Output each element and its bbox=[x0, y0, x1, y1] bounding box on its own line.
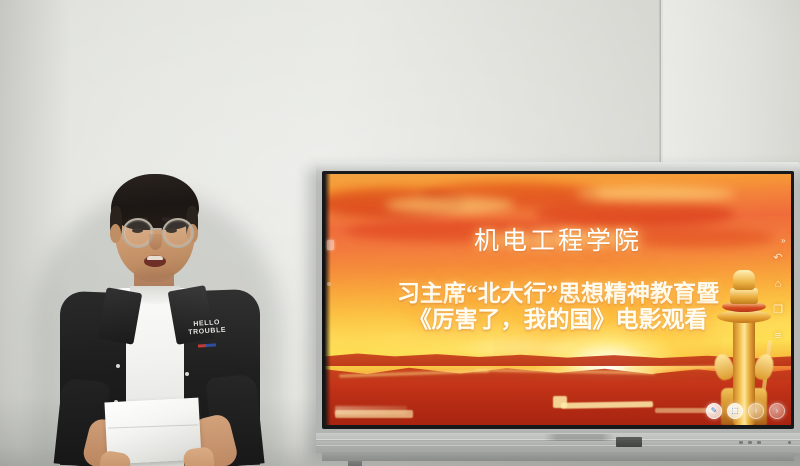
ir-receiver bbox=[616, 437, 642, 447]
slide-title: 机电工程学院 bbox=[325, 229, 791, 254]
speaker-vent bbox=[757, 441, 761, 444]
display-foot bbox=[348, 461, 362, 466]
cloud bbox=[535, 200, 735, 228]
previous-button[interactable]: ‹ bbox=[748, 403, 764, 419]
side-toolbar-handle[interactable]: » bbox=[781, 236, 788, 243]
back-arrow-icon[interactable]: ↶ bbox=[772, 252, 785, 265]
slide-subtitle-line-1: 习主席“北大行”思想精神教育暨 bbox=[325, 282, 791, 306]
cloud bbox=[385, 196, 515, 214]
slide-hud-controls[interactable]: ✎ ⬚ ‹ › bbox=[706, 403, 785, 419]
interactive-flat-panel[interactable]: 机电工程学院 习主席“北大行”思想精神教育暨 《厉害了，我的国》电影观看 » ↶… bbox=[316, 162, 800, 452]
screenshot-root: 机电工程学院 习主席“北大行”思想精神教育暨 《厉害了，我的国》电影观看 » ↶… bbox=[0, 0, 800, 466]
jacket-button bbox=[185, 372, 189, 376]
cloud bbox=[575, 186, 735, 202]
great-wall-tower bbox=[553, 396, 567, 408]
chin-groove bbox=[316, 445, 800, 447]
slide-subtitle-line-2: 《厉害了，我的国》电影观看 bbox=[325, 308, 791, 332]
display-base-rail bbox=[322, 452, 794, 461]
next-button[interactable]: › bbox=[769, 403, 785, 419]
screen-left-edge bbox=[325, 174, 331, 425]
drawer-handle[interactable] bbox=[327, 240, 334, 250]
power-led bbox=[788, 441, 791, 444]
side-toolbar[interactable]: ↶ ⌂ ❐ ≡ bbox=[770, 252, 786, 343]
panel-top-highlight bbox=[316, 162, 800, 171]
pen-tool-button[interactable]: ✎ bbox=[706, 403, 722, 419]
huabiao-wing bbox=[752, 352, 776, 382]
presenter-chin bbox=[134, 266, 174, 282]
presenter: HELLO TROUBLE bbox=[38, 168, 278, 466]
speaker-vent bbox=[739, 441, 743, 444]
speaker-vent bbox=[748, 441, 752, 444]
presenter-ear bbox=[110, 224, 121, 243]
menu-icon[interactable]: ≡ bbox=[772, 330, 785, 343]
home-icon[interactable]: ⌂ bbox=[772, 278, 785, 291]
jacket-button bbox=[116, 364, 120, 368]
slide-watermark bbox=[335, 406, 407, 415]
brand-logo bbox=[544, 434, 614, 441]
presenter-teeth bbox=[147, 256, 163, 260]
glasses-lens bbox=[162, 218, 194, 248]
apps-icon[interactable]: ❐ bbox=[772, 304, 785, 317]
save-button[interactable]: ⬚ bbox=[727, 403, 743, 419]
jacket-graphic-text: HELLO TROUBLE bbox=[183, 318, 230, 337]
screen-indicator-dot bbox=[327, 282, 331, 286]
glasses-bridge bbox=[150, 228, 162, 230]
presenter-nose bbox=[149, 234, 162, 250]
display-screen[interactable]: 机电工程学院 习主席“北大行”思想精神教育暨 《厉害了，我的国》电影观看 » ↶… bbox=[325, 174, 791, 425]
